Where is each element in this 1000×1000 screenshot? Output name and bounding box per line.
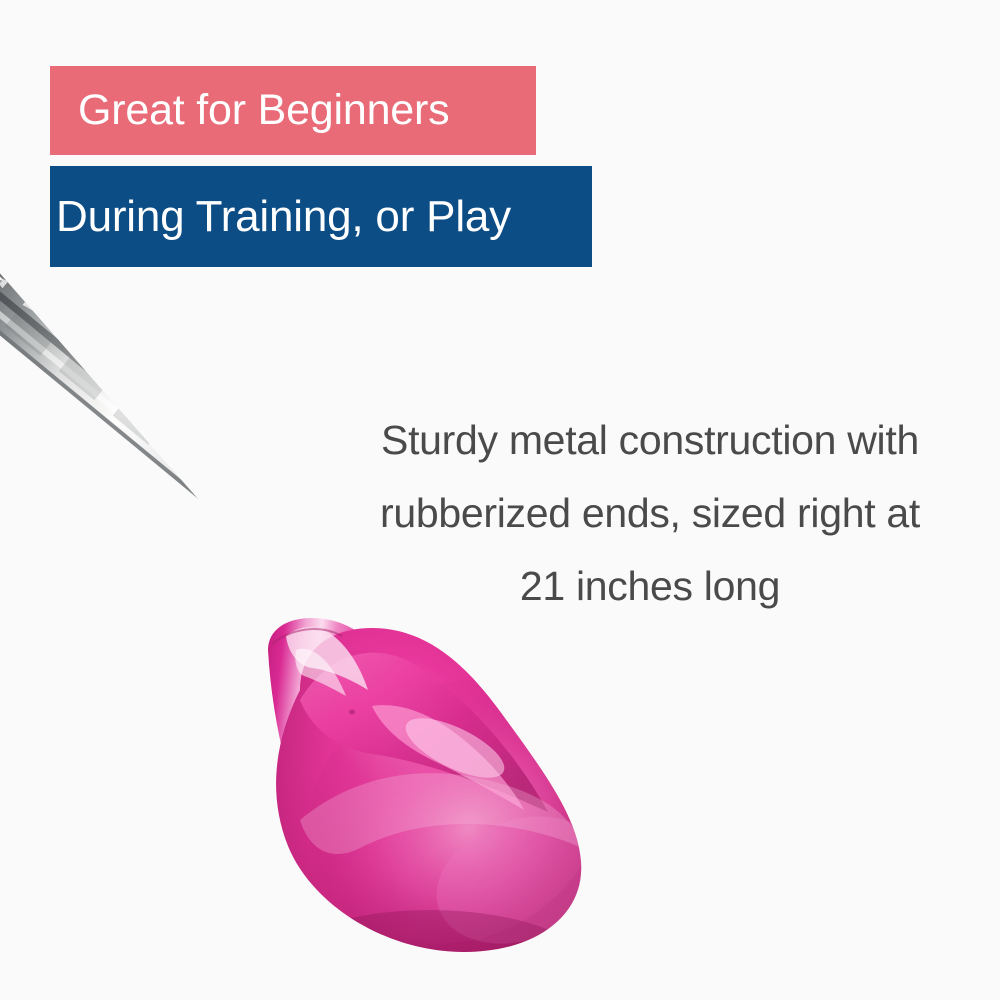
banner-headline-primary: Great for Beginners [50, 66, 536, 155]
description-line-3: 21 inches long [340, 550, 960, 623]
description-line-1: Sturdy metal construction with [340, 404, 960, 477]
banner-secondary-text: During Training, or Play [56, 192, 511, 242]
feature-description: Sturdy metal construction with rubberize… [340, 404, 960, 623]
banner-headline-secondary: During Training, or Play [50, 166, 592, 267]
pink-handle [250, 618, 644, 1000]
banner-primary-text: Great for Beginners [78, 86, 449, 135]
product-feature-graphic: Great for Beginners During Training, or … [0, 0, 1000, 1000]
description-line-2: rubberized ends, sized right at [340, 477, 960, 550]
